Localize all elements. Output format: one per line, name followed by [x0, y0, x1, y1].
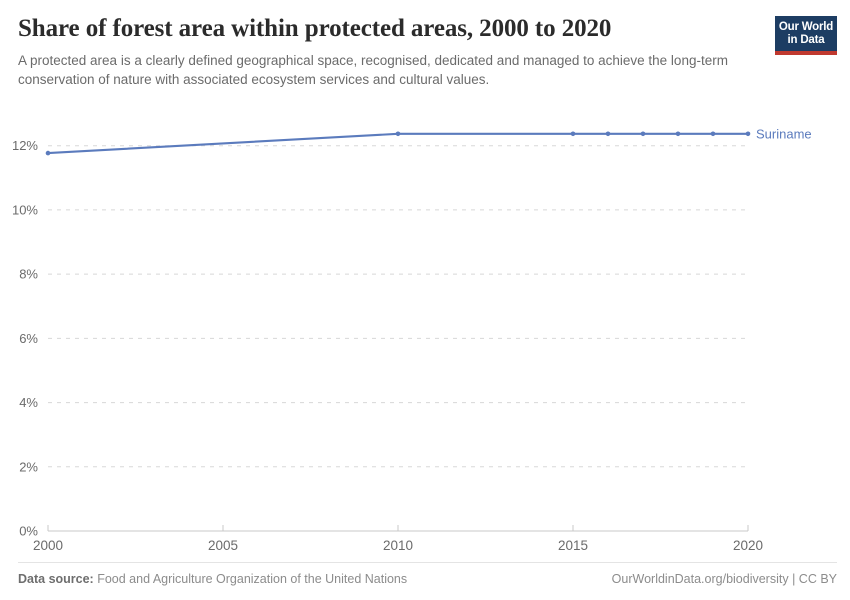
attribution-link[interactable]: OurWorldinData.org/biodiversity | CC BY	[612, 572, 837, 586]
data-point-marker[interactable]	[396, 132, 401, 137]
page-title: Share of forest area within protected ar…	[18, 14, 758, 44]
x-axis-tick-label: 2020	[733, 538, 763, 553]
logo-line-1: Our World	[775, 21, 837, 34]
data-point-marker[interactable]	[571, 132, 576, 137]
data-point-marker[interactable]	[711, 132, 716, 137]
logo-line-2: in Data	[775, 34, 837, 47]
x-axis-tick-label: 2000	[33, 538, 63, 553]
data-point-marker[interactable]	[606, 132, 611, 137]
x-axis-tick-label: 2015	[558, 538, 588, 553]
y-axis-tick-label: 6%	[19, 331, 38, 346]
chart-plot-area[interactable]: 0%2%4%6%8%10%12% 20002005201020152020 Su…	[0, 92, 850, 554]
data-source-label: Data source:	[18, 572, 94, 586]
data-point-marker[interactable]	[641, 132, 646, 137]
data-source: Data source: Food and Agriculture Organi…	[18, 572, 407, 586]
data-point-marker[interactable]	[746, 132, 751, 137]
x-axis-tick-labels: 20002005201020152020	[33, 538, 763, 553]
x-axis-group	[48, 525, 748, 531]
x-axis-tick-label: 2005	[208, 538, 238, 553]
chart-footer: Data source: Food and Agriculture Organi…	[18, 562, 837, 586]
series-line-suriname[interactable]	[48, 134, 748, 153]
chart-header: Share of forest area within protected ar…	[18, 14, 758, 89]
y-axis-tick-label: 0%	[19, 524, 38, 539]
y-axis-tick-label: 4%	[19, 395, 38, 410]
chart-subtitle: A protected area is a clearly defined ge…	[18, 52, 728, 89]
y-axis-tick-label: 12%	[12, 138, 38, 153]
gridlines-group	[48, 146, 748, 467]
series-end-labels[interactable]: Suriname	[756, 126, 812, 141]
series-label-suriname[interactable]: Suriname	[756, 126, 812, 141]
y-axis-tick-labels: 0%2%4%6%8%10%12%	[12, 138, 38, 538]
y-axis-tick-label: 8%	[19, 267, 38, 282]
data-point-marker[interactable]	[676, 132, 681, 137]
data-point-marker[interactable]	[46, 151, 51, 156]
x-axis-tick-label: 2010	[383, 538, 413, 553]
data-source-value: Food and Agriculture Organization of the…	[97, 572, 407, 586]
series-group[interactable]	[46, 132, 751, 156]
line-chart-svg[interactable]: 0%2%4%6%8%10%12% 20002005201020152020 Su…	[0, 92, 850, 554]
our-world-in-data-logo[interactable]: Our World in Data	[775, 16, 837, 55]
y-axis-tick-label: 10%	[12, 202, 38, 217]
y-axis-tick-label: 2%	[19, 459, 38, 474]
